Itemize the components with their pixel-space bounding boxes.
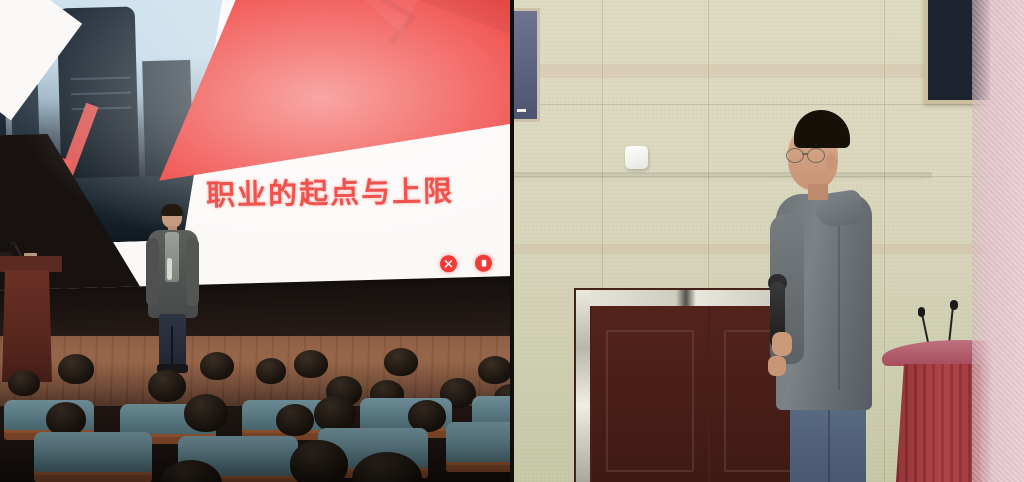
presenter-coat-seam bbox=[838, 220, 840, 390]
lectern-microphone-head bbox=[918, 307, 925, 317]
photo-composite: 职业的起点与上限 bbox=[0, 0, 1024, 482]
slide-badge-group bbox=[440, 255, 492, 273]
presenter-hand bbox=[768, 356, 786, 376]
scissors-badge-icon bbox=[440, 255, 457, 272]
wall-panel-blue bbox=[512, 8, 540, 122]
door-side-light bbox=[576, 290, 590, 482]
audience-head bbox=[314, 396, 356, 432]
red-facet bbox=[417, 0, 512, 73]
audience-head bbox=[478, 356, 512, 384]
door-leaf[interactable] bbox=[592, 306, 708, 482]
audience-seat bbox=[34, 432, 152, 472]
slide-title: 职业的起点与上限 bbox=[206, 168, 455, 214]
left-panel-auditorium-wide-shot: 职业的起点与上限 bbox=[0, 0, 512, 482]
audience-head bbox=[294, 350, 328, 378]
audience-head bbox=[184, 394, 228, 432]
door-panel-inset bbox=[606, 330, 694, 472]
audience-head bbox=[384, 348, 418, 376]
wall-pink-column bbox=[972, 0, 1024, 482]
wall-seam bbox=[512, 104, 1024, 105]
projection-screen bbox=[0, 0, 512, 291]
audience-head bbox=[200, 352, 234, 380]
presenter-figure bbox=[764, 110, 894, 482]
audience-seating bbox=[0, 348, 512, 482]
wall-pink-texture bbox=[972, 0, 1024, 482]
panel-divider bbox=[510, 0, 514, 482]
audience-head bbox=[58, 354, 94, 384]
glasses-icon bbox=[786, 148, 830, 162]
lectern-top bbox=[0, 256, 62, 272]
presenter-arm bbox=[186, 238, 199, 306]
glasses-bridge bbox=[802, 153, 808, 155]
presenter-hair bbox=[161, 204, 183, 216]
wall-sensor-icon bbox=[625, 146, 648, 169]
presenter-neck bbox=[808, 184, 828, 200]
presenter-hair bbox=[794, 110, 850, 148]
presenter-hand-holding-microphone bbox=[772, 332, 792, 356]
audience-seat bbox=[446, 422, 512, 462]
audience-head bbox=[290, 440, 348, 482]
audience-head bbox=[256, 358, 286, 384]
audience-head bbox=[46, 402, 86, 436]
presenter-microphone bbox=[167, 258, 172, 280]
audience-head bbox=[8, 370, 40, 396]
audience-head bbox=[148, 370, 186, 402]
document-badge-icon bbox=[475, 255, 492, 272]
presenter-trouser-seam bbox=[828, 410, 830, 482]
audience-head bbox=[276, 404, 314, 436]
lectern-microphone-head bbox=[10, 241, 16, 245]
right-panel-speaker-close-up bbox=[512, 0, 1024, 482]
presenter-arm bbox=[146, 238, 159, 306]
glasses-lens bbox=[807, 148, 825, 163]
lectern-microphone-head bbox=[950, 300, 958, 310]
glasses-lens bbox=[786, 148, 804, 163]
